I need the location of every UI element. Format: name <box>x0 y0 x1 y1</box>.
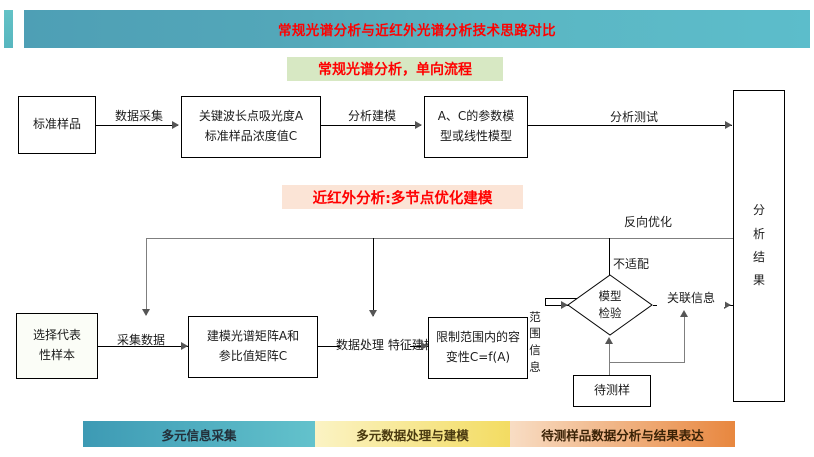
box-unknown-sample-line1: 待测样 <box>594 381 630 401</box>
box-analysis-result-char-3: 结 <box>753 246 765 269</box>
label-data-collection-2: 采集数据 <box>106 332 176 349</box>
box-parameter-model[interactable]: A、C的参数模 型或线性模型 <box>424 96 528 158</box>
box-parameter-model-line1: A、C的参数模 <box>438 107 515 127</box>
box-select-sample-line1: 选择代表 <box>33 326 81 346</box>
slide-canvas: 常规光谱分析与近红外光谱分析技术思路对比 常规光谱分析，单向流程 标准样品 数据… <box>0 0 814 457</box>
label-data-processing-line1: 数据处理 <box>336 338 384 352</box>
connector-reverse-optimization-spine <box>146 238 733 239</box>
label-mismatch: 不适配 <box>613 256 673 273</box>
legend-segment-collection-label: 多元信息采集 <box>161 425 236 444</box>
diamond-shape-icon <box>567 274 653 336</box>
connector-unknown-to-related <box>609 362 685 363</box>
banner-nir: 近红外分析:多节点优化建模 <box>282 185 523 209</box>
box-unknown-sample[interactable]: 待测样 <box>573 375 651 407</box>
box-constrained-variability-line2: 变性C=f(A) <box>446 348 510 368</box>
legend-segment-processing[interactable]: 多元数据处理与建模 <box>315 421 510 447</box>
label-data-collection-1: 数据采集 <box>102 108 176 125</box>
banner-conventional: 常规光谱分析，单向流程 <box>287 57 503 81</box>
label-reverse-optimization: 反向优化 <box>608 214 688 231</box>
banner-conventional-label: 常规光谱分析，单向流程 <box>318 59 472 79</box>
arrow-select-to-matrix <box>181 342 188 350</box>
label-range-info: 范 围 信 息 <box>527 294 543 390</box>
box-analysis-result[interactable]: 分 析 结 果 <box>733 90 785 402</box>
label-analysis-modeling: 分析建模 <box>338 108 406 125</box>
title-accent-bar <box>4 10 13 48</box>
page-title: 常规光谱分析与近红外光谱分析技术思路对比 <box>278 19 556 39</box>
arrow-diamond-to-result <box>724 301 731 309</box>
legend-bar: 多元信息采集 多元数据处理与建模 待测样品数据分析与结果表达 <box>83 421 735 447</box>
connector-feedback-to-process <box>373 238 374 316</box>
arrow-related-up <box>680 310 688 317</box>
arrow-feedback-to-select <box>142 309 150 316</box>
legend-segment-collection[interactable]: 多元信息采集 <box>83 421 315 447</box>
box-analysis-result-char-2: 析 <box>753 223 765 246</box>
legend-segment-analysis-label: 待测样品数据分析与结果表达 <box>541 425 704 444</box>
arrow-wavelength-to-model <box>415 121 422 129</box>
connector-mismatch-up <box>609 238 610 276</box>
box-standard-sample[interactable]: 标准样品 <box>18 96 96 154</box>
arrow-feedback-to-process <box>369 310 377 317</box>
label-range-info-char-3: 信 <box>529 342 541 359</box>
diamond-model-validation[interactable]: 模型 检验 <box>567 274 653 336</box>
box-analysis-result-char-1: 分 <box>753 199 765 222</box>
box-select-representative-sample[interactable]: 选择代表 性样本 <box>16 313 98 379</box>
banner-nir-label: 近红外分析:多节点优化建模 <box>313 187 493 208</box>
connector-feedback-to-select <box>146 238 147 315</box>
box-parameter-model-line2: 型或线性模型 <box>440 127 512 147</box>
connector-range-vertical <box>545 298 546 305</box>
arrow-unknown-to-diamond <box>605 337 613 344</box>
arrow-process-to-limit <box>421 342 428 350</box>
connector-related-vertical <box>684 316 685 362</box>
box-constrained-variability[interactable]: 限制范围内的容 变性C=f(A) <box>428 317 528 379</box>
box-key-wavelength-line2: 标准样品浓度值C <box>205 127 297 147</box>
label-data-processing: 数据处理 特征建模 <box>336 337 412 354</box>
arrow-model-to-result <box>725 121 732 129</box>
box-standard-sample-line1: 标准样品 <box>33 115 81 135</box>
title-bar: 常规光谱分析与近红外光谱分析技术思路对比 <box>24 10 810 48</box>
legend-segment-analysis[interactable]: 待测样品数据分析与结果表达 <box>510 421 735 447</box>
label-range-info-char-4: 息 <box>529 359 541 376</box>
box-modeling-matrix-line2: 参比值矩阵C <box>219 347 287 367</box>
connector-unknown-to-diamond <box>609 341 610 375</box>
label-range-info-char-2: 围 <box>529 325 541 342</box>
box-analysis-result-char-4: 果 <box>753 269 765 292</box>
box-key-wavelength[interactable]: 关键波长点吸光度A 标准样品浓度值C <box>181 96 321 158</box>
label-analysis-test: 分析测试 <box>600 109 668 126</box>
box-key-wavelength-line1: 关键波长点吸光度A <box>199 107 303 127</box>
legend-segment-processing-label: 多元数据处理与建模 <box>356 425 469 444</box>
box-modeling-matrix[interactable]: 建模光谱矩阵A和 参比值矩阵C <box>188 316 318 378</box>
box-modeling-matrix-line1: 建模光谱矩阵A和 <box>207 327 299 347</box>
box-constrained-variability-line1: 限制范围内的容 <box>436 328 520 348</box>
label-related-info: 关联信息 <box>657 290 725 307</box>
box-select-sample-line2: 性样本 <box>39 346 75 366</box>
label-range-info-char-1: 范 <box>529 309 541 326</box>
